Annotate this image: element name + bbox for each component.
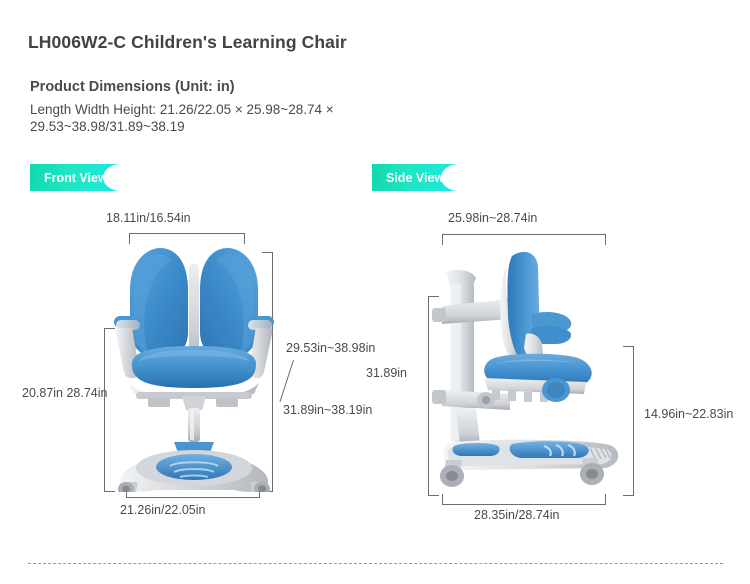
- front-view-chair-illustration: [108, 246, 280, 492]
- front-width-top-bracket: [129, 233, 245, 244]
- side-view-chair-illustration: [428, 248, 628, 492]
- side-view-tag: Side View: [372, 164, 458, 191]
- side-depth-top-bracket: [442, 234, 606, 245]
- front-height-leader-line: [279, 360, 294, 402]
- dimensions-value: Length Width Height: 21.26/22.05 × 25.98…: [30, 101, 450, 135]
- front-width-top-label: 18.11in/16.54in: [106, 211, 191, 225]
- tag-notch-shape: [103, 164, 121, 191]
- front-height-upper-label: 29.53in~38.98in: [286, 341, 375, 355]
- front-height-lower-label: 31.89in~38.19in: [283, 403, 372, 417]
- dimensions-heading: Product Dimensions (Unit: in): [30, 79, 235, 95]
- side-depth-bottom-label: 28.35in/28.74in: [474, 508, 560, 522]
- side-view-tag-label: Side View: [372, 171, 444, 185]
- page-title: LH006W2-C Children's Learning Chair: [28, 32, 347, 53]
- side-depth-top-label: 25.98in~28.74in: [448, 211, 537, 225]
- front-height-mid-label: 31.89in: [366, 366, 407, 380]
- side-height-right-label: 14.96in~22.83in: [644, 407, 733, 421]
- front-height-left-label: 20.87in 28.74in: [22, 386, 108, 400]
- product-spec-page: LH006W2-C Children's Learning Chair Prod…: [0, 0, 750, 584]
- front-width-bottom-label: 21.26in/22.05in: [120, 503, 206, 517]
- front-view-tag-label: Front View: [30, 171, 108, 185]
- footer-divider: [28, 563, 723, 564]
- front-view-tag: Front View: [30, 164, 120, 191]
- tag-notch-shape: [441, 164, 459, 191]
- side-depth-bottom-bracket: [442, 494, 606, 505]
